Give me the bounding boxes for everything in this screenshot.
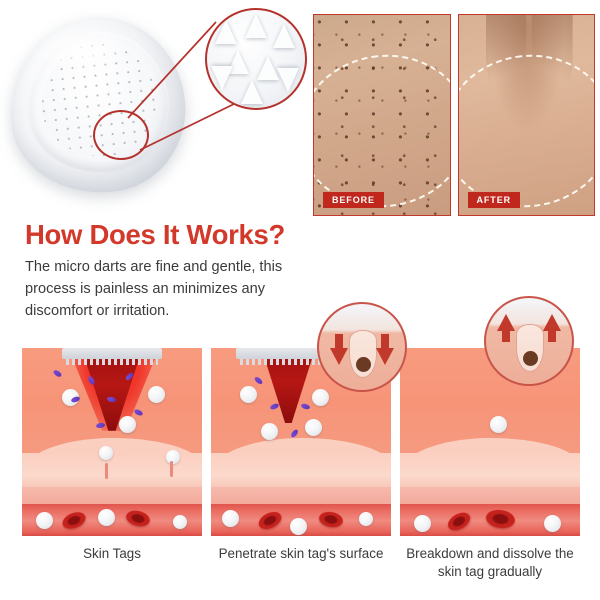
white-blood-cell	[148, 386, 165, 403]
pore-plug	[356, 357, 371, 372]
pore-inset-penetration-icon	[317, 302, 407, 392]
white-blood-cell	[98, 509, 115, 526]
pore	[349, 330, 377, 378]
white-blood-cell	[490, 416, 507, 433]
arrow-stem	[381, 334, 389, 348]
penetration-stage	[211, 336, 391, 536]
dermis-layer	[400, 453, 580, 491]
process-panels	[22, 336, 580, 536]
blood-vessel	[400, 504, 580, 536]
white-blood-cell	[36, 512, 53, 529]
before-badge: BEFORE	[323, 192, 384, 208]
white-blood-cell	[359, 512, 373, 526]
panel-captions: Skin Tags Penetrate skin tag's surface B…	[22, 545, 580, 593]
patch-applicator	[236, 348, 330, 359]
white-blood-cell	[544, 515, 561, 532]
red-blood-cell	[60, 509, 88, 532]
red-blood-cell	[445, 509, 473, 534]
follicle	[105, 463, 108, 479]
follicle	[170, 461, 173, 477]
white-blood-cell	[222, 510, 239, 527]
red-blood-cell	[125, 508, 152, 528]
red-blood-cell	[318, 510, 344, 529]
white-blood-cell	[240, 386, 257, 403]
caption-step-1: Skin Tags	[22, 545, 202, 593]
patch-applicator	[62, 348, 163, 359]
pore	[516, 324, 544, 372]
caption-step-2: Penetrate skin tag's surface	[211, 545, 391, 593]
white-blood-cell	[173, 515, 187, 529]
white-blood-cell	[119, 416, 136, 433]
arrow-down-icon	[330, 348, 348, 365]
body-copy: The micro darts are fine and gentle, thi…	[25, 256, 317, 323]
product-shot	[0, 0, 305, 215]
before-photo: BEFORE	[313, 14, 451, 216]
page-title: How Does It Works?	[25, 219, 285, 251]
arrow-up-icon	[543, 314, 561, 331]
caption-step-3: Breakdown and dissolve the skin tag grad…	[400, 545, 580, 593]
arrow-up-icon	[497, 314, 515, 331]
dermis-layer	[211, 453, 391, 491]
red-blood-cell	[256, 508, 284, 532]
after-badge: AFTER	[468, 192, 521, 208]
white-blood-cell	[305, 419, 322, 436]
micro-darts-magnified-icon	[205, 8, 307, 110]
skin-cross-section	[22, 348, 202, 536]
white-blood-cell	[290, 518, 307, 535]
before-after-comparison: BEFORE AFTER	[313, 14, 595, 216]
dissolve-stage	[400, 336, 580, 536]
pore-inset-dissolve-icon	[484, 296, 574, 386]
after-photo: AFTER	[458, 14, 596, 216]
white-blood-cell	[414, 515, 431, 532]
zoom-target-ring	[93, 110, 149, 160]
skin-tags-stage	[22, 336, 202, 536]
blood-vessel	[211, 504, 391, 536]
arrow-stem	[335, 334, 343, 348]
infographic-page: BEFORE AFTER How Does It Works? The micr…	[0, 0, 600, 600]
pore-plug	[523, 351, 538, 366]
blood-vessel	[22, 504, 202, 536]
arrow-down-icon	[376, 348, 394, 365]
white-blood-cell	[166, 450, 180, 464]
micro-dart-patch	[1, 9, 193, 201]
red-blood-cell	[485, 508, 516, 530]
